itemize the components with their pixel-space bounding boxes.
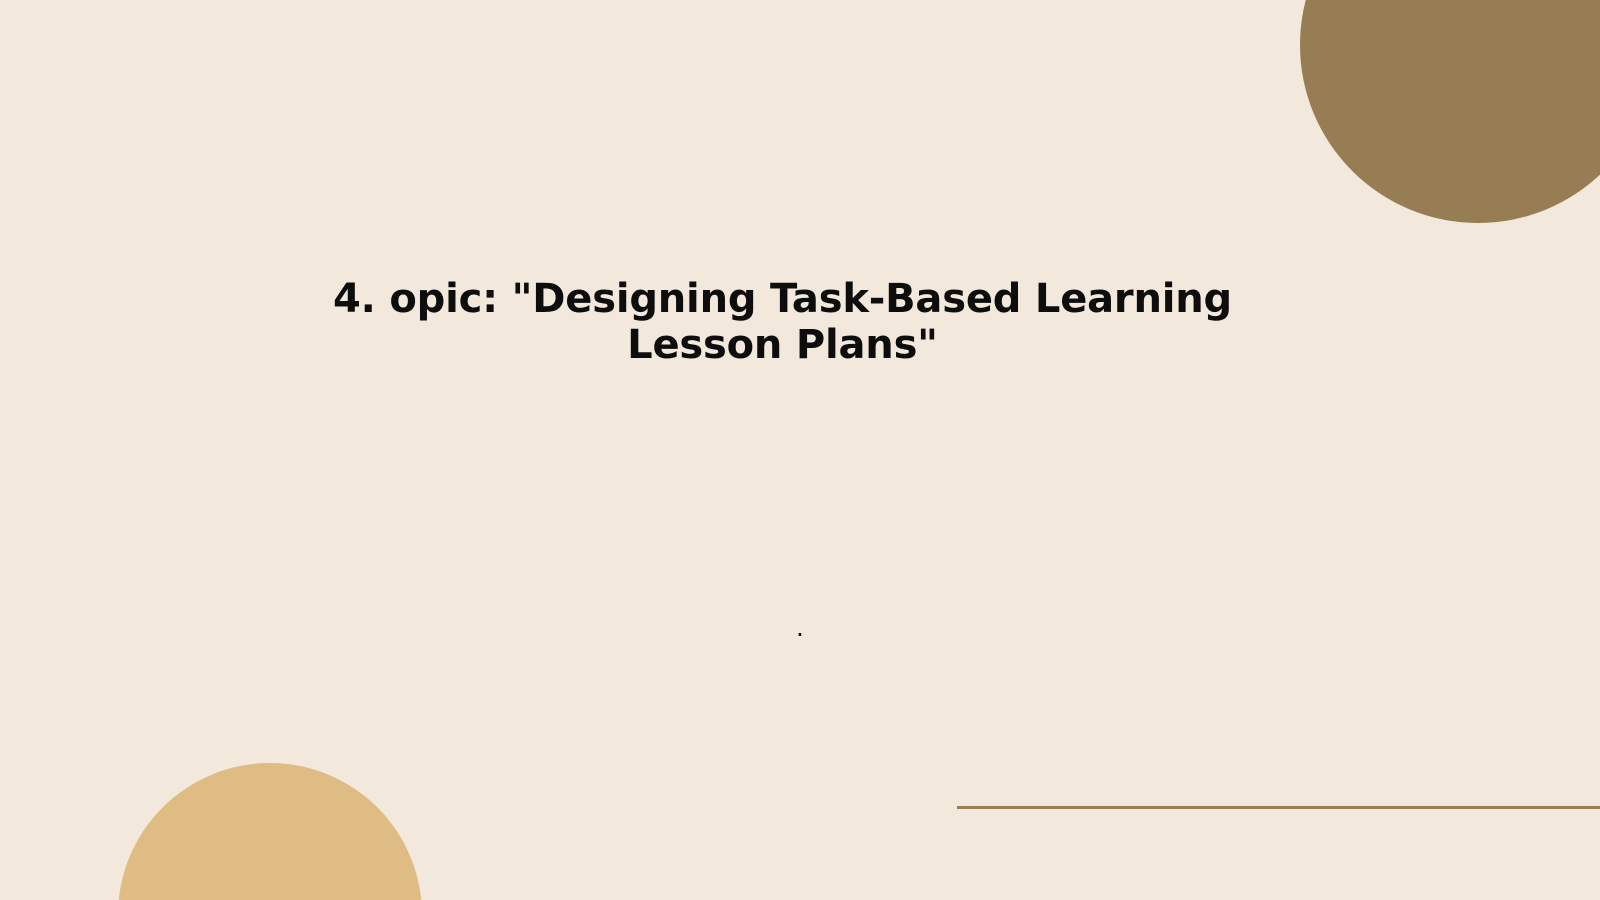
body-paragraph: . <box>640 612 960 646</box>
decorative-circle-bottom-left-icon <box>118 763 422 900</box>
page-title: 4. opic: "Designing Task-Based Learning … <box>330 276 1235 369</box>
title-block: 4. opic: "Designing Task-Based Learning … <box>330 276 1235 369</box>
slide-canvas: 4. opic: "Designing Task-Based Learning … <box>0 0 1600 900</box>
decorative-divider-line <box>957 806 1600 809</box>
body-block: . <box>640 612 960 646</box>
decorative-circle-top-right-icon <box>1300 0 1600 223</box>
